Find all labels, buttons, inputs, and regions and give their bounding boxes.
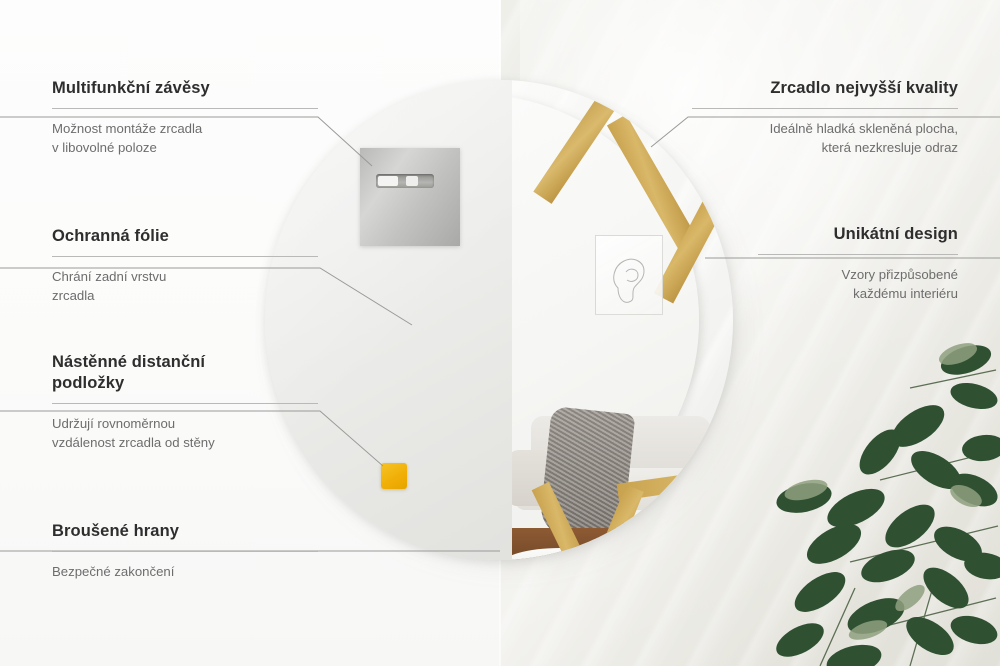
round-mirror bbox=[253, 80, 733, 560]
callout-rule bbox=[692, 108, 958, 109]
callout-desc-line1: Bezpečné zakončení bbox=[52, 562, 320, 581]
callout-desc-line2: v libovolné poloze bbox=[52, 138, 320, 157]
callout-title: Ochranná fólie bbox=[52, 226, 320, 247]
callout-unique-design: Unikátní design Vzory přizpůsobené každé… bbox=[690, 224, 958, 303]
infographic-canvas: Multifunkční závěsy Možnost montáže zrca… bbox=[0, 0, 1000, 666]
callout-wall-spacers: Nástěnné distanční podložky Udržují rovn… bbox=[52, 352, 320, 453]
callout-protective-foil: Ochranná fólie Chrání zadní vrstvu zrcad… bbox=[52, 226, 320, 305]
callout-rule bbox=[52, 551, 318, 552]
callout-title: Unikátní design bbox=[690, 224, 958, 245]
callout-desc-line1: Možnost montáže zrcadla bbox=[52, 119, 320, 138]
callout-title-line2: podložky bbox=[52, 373, 320, 394]
green-foliage bbox=[760, 330, 1000, 666]
callout-rule bbox=[52, 108, 318, 109]
callout-desc-line2: vzdálenost zrcadla od stěny bbox=[52, 433, 320, 452]
callout-desc-line1: Udržují rovnoměrnou bbox=[52, 414, 320, 433]
callout-mirror-quality: Zrcadlo nejvyšší kvality Ideálně hladká … bbox=[690, 78, 958, 157]
callout-rule bbox=[52, 403, 318, 404]
metal-hanger-plate bbox=[360, 148, 460, 246]
callout-title: Multifunkční závěsy bbox=[52, 78, 320, 99]
callout-title: Broušené hrany bbox=[52, 521, 320, 542]
yellow-wall-spacer bbox=[381, 463, 407, 489]
framed-line-art bbox=[595, 235, 663, 315]
callout-desc-line1: Chrání zadní vrstvu bbox=[52, 267, 320, 286]
callout-desc-line2: zrcadla bbox=[52, 286, 320, 305]
callout-desc-line1: Vzory přizpůsobené bbox=[690, 265, 958, 284]
callout-title-line1: Nástěnné distanční bbox=[52, 352, 320, 373]
callout-polished-edges: Broušené hrany Bezpečné zakončení bbox=[52, 521, 320, 581]
mirror-glass bbox=[265, 80, 733, 560]
callout-rule bbox=[52, 256, 318, 257]
callout-title: Zrcadlo nejvyšší kvality bbox=[690, 78, 958, 99]
callout-rule bbox=[758, 254, 958, 255]
callout-desc-line2: která nezkresluje odraz bbox=[690, 138, 958, 157]
callout-desc-line2: každému interiéru bbox=[690, 284, 958, 303]
callout-hangers: Multifunkční závěsy Možnost montáže zrca… bbox=[52, 78, 320, 157]
hanger-keyhole-slot bbox=[376, 174, 434, 188]
callout-desc-line1: Ideálně hladká skleněná plocha, bbox=[690, 119, 958, 138]
